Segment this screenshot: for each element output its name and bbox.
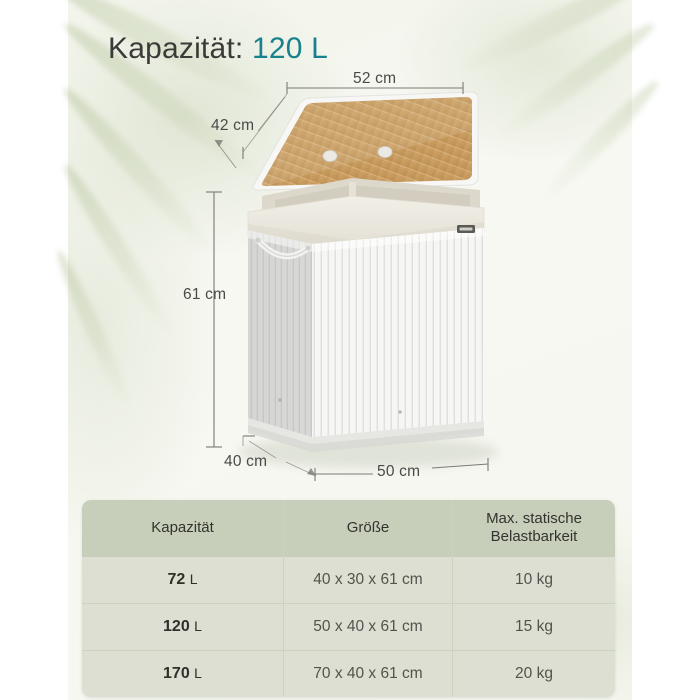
specification-table: Kapazität Größe Max. statische Belastbar…: [82, 500, 615, 697]
handle-rivet-right: [305, 245, 310, 250]
product-infographic: Kapazität: 120 L: [0, 0, 700, 700]
hamper-lid: [253, 92, 478, 190]
capacity-unit: L: [194, 665, 202, 681]
table-header-load: Max. statische Belastbarkeit: [452, 500, 615, 557]
table-header-load-line2: Belastbarkeit: [486, 528, 582, 546]
body-front-slats: [312, 228, 484, 444]
dim-label-base-depth: 40 cm: [224, 453, 267, 471]
capacity-unit: L: [194, 618, 202, 634]
lid-knob-right: [378, 147, 392, 158]
capacity-unit: L: [190, 571, 198, 587]
body-screw-left: [278, 398, 282, 402]
hamper-body: [248, 225, 484, 452]
body-left-shade: [248, 230, 312, 444]
table-row: 170 L 70 x 40 x 61 cm 20 kg: [82, 650, 615, 697]
brand-tag-text: [460, 228, 473, 231]
cell-load: 20 kg: [452, 651, 615, 697]
cell-load: 10 kg: [452, 557, 615, 603]
dim-label-lid-depth: 42 cm: [211, 117, 254, 135]
dim-label-lid-width: 52 cm: [353, 70, 396, 88]
body-screw-front: [398, 410, 402, 414]
cell-load: 15 kg: [452, 604, 615, 650]
capacity-number: 170: [163, 665, 190, 682]
cell-size: 40 x 30 x 61 cm: [283, 557, 452, 603]
cell-capacity: 120 L: [82, 604, 283, 650]
capacity-number: 120: [163, 618, 190, 635]
cell-capacity: 72 L: [82, 557, 283, 603]
dim-arrowhead-lid-depth: [215, 140, 223, 147]
table-row: 120 L 50 x 40 x 61 cm 15 kg: [82, 603, 615, 650]
cell-capacity: 170 L: [82, 651, 283, 697]
table-row: 72 L 40 x 30 x 61 cm 10 kg: [82, 557, 615, 603]
dim-label-height: 61 cm: [183, 286, 226, 304]
table-header-load-line1: Max. statische: [486, 510, 582, 528]
cell-size: 50 x 40 x 61 cm: [283, 604, 452, 650]
lid-knob-left: [323, 151, 337, 162]
table-header-size: Größe: [283, 500, 452, 557]
capacity-number: 72: [167, 571, 185, 588]
handle-rivet-left: [255, 237, 260, 242]
cell-size: 70 x 40 x 61 cm: [283, 651, 452, 697]
table-header-capacity: Kapazität: [82, 500, 283, 557]
dim-label-base-width: 50 cm: [377, 463, 420, 481]
table-header-row: Kapazität Größe Max. statische Belastbar…: [82, 500, 615, 557]
